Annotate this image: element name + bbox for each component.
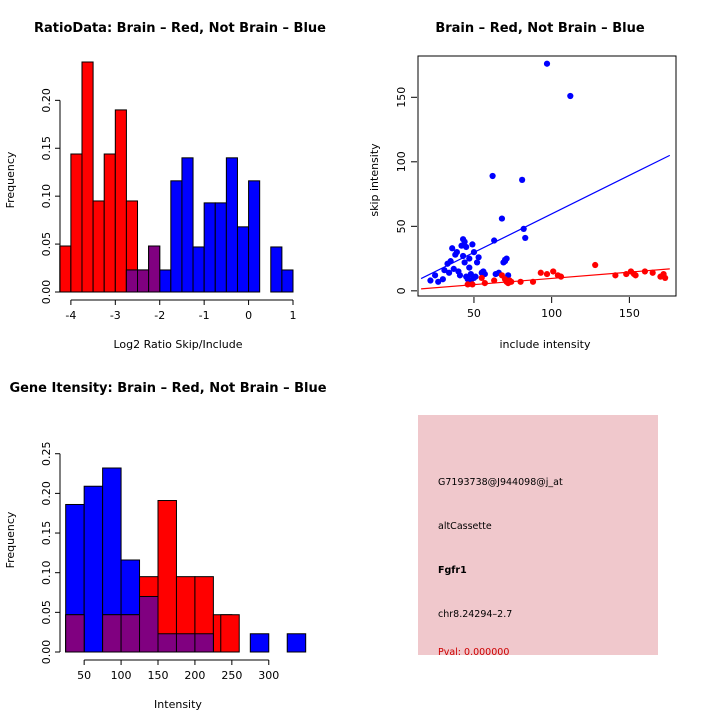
info-probe-id: G7193738@J944098@j_at — [438, 477, 563, 488]
info-event-type: altCassette — [438, 521, 492, 532]
histogram-bar — [221, 615, 239, 652]
scatter-point — [454, 249, 460, 255]
scatter-point — [427, 277, 433, 283]
panel-intensity-scatter: Brain – Red, Not Brain – Blue 0501001505… — [360, 0, 720, 360]
axis-tick-label: -4 — [65, 309, 76, 322]
scatter-point — [491, 277, 497, 283]
scatter-point — [457, 272, 463, 278]
histogram-bar — [182, 158, 193, 292]
histogram-bar — [171, 181, 182, 292]
info-locus: chr8.24294–2.7 — [438, 609, 512, 620]
ratio-histogram-xlabel: Log2 Ratio Skip/Include — [113, 338, 242, 351]
axis-tick-label: 1 — [290, 309, 297, 322]
scatter-point — [508, 279, 514, 285]
scatter-point — [530, 279, 536, 285]
scatter-point — [538, 270, 544, 276]
axis-tick-label: 0.05 — [40, 232, 53, 256]
plot-frame — [418, 56, 676, 296]
scatter-point — [592, 262, 598, 268]
histogram-bar — [249, 181, 260, 292]
scatter-point — [469, 281, 475, 287]
histogram-bar-overlap — [158, 634, 176, 652]
axis-tick-label: 150 — [148, 669, 169, 682]
histogram-bar-overlap — [176, 634, 194, 652]
scatter-title: Brain – Red, Not Brain – Blue — [435, 21, 644, 36]
histogram-bar-overlap — [126, 270, 137, 292]
histogram-bar — [193, 247, 204, 292]
histogram-bar — [60, 246, 71, 292]
axis-tick-label: -2 — [154, 309, 165, 322]
info-pval: Pval: 0.000000 — [438, 647, 509, 658]
histogram-bar — [160, 270, 171, 292]
scatter-point — [479, 275, 485, 281]
histogram-bar — [215, 203, 226, 292]
scatter-point — [466, 265, 472, 271]
panel-ratio-histogram: RatioData: Brain – Red, Not Brain – Blue… — [0, 0, 360, 360]
gene-histogram-ylabel: Frequency — [4, 511, 17, 568]
regression-line — [421, 155, 670, 278]
panel-gene-intensity-histogram: Gene Itensity: Brain – Red, Not Brain – … — [0, 360, 360, 720]
scatter-point — [460, 253, 466, 259]
axis-tick-label: 150 — [395, 87, 408, 108]
axis-tick-label: 100 — [395, 151, 408, 172]
scatter-point — [490, 173, 496, 179]
histogram-bar — [82, 62, 93, 292]
histogram-bar — [250, 634, 268, 652]
gene-histogram-bars — [66, 468, 306, 652]
axis-tick-label: 0.20 — [40, 481, 53, 506]
histogram-bar — [104, 154, 115, 292]
scatter-point — [642, 268, 648, 274]
axis-tick-label: 100 — [111, 669, 132, 682]
scatter-point — [482, 280, 488, 286]
axis-tick-label: 0.00 — [40, 280, 53, 305]
axis-tick-label: 250 — [221, 669, 242, 682]
figure-canvas: RatioData: Brain – Red, Not Brain – Blue… — [0, 0, 720, 720]
scatter-point — [612, 272, 618, 278]
scatter-axes: 05010015050100150 — [395, 87, 640, 320]
ratio-histogram-bars — [60, 62, 293, 292]
scatter-point — [472, 274, 478, 280]
histogram-bar — [115, 110, 126, 292]
axis-tick-label: 0.00 — [40, 640, 53, 665]
histogram-bar — [204, 203, 215, 292]
histogram-bar-overlap — [149, 246, 160, 292]
histogram-bar — [71, 154, 82, 292]
axis-tick-label: 50 — [467, 307, 481, 320]
axis-tick-label: 50 — [77, 669, 91, 682]
histogram-bar — [271, 247, 282, 292]
scatter-point — [522, 235, 528, 241]
scatter-point — [469, 241, 475, 247]
histogram-bar-overlap — [140, 596, 158, 652]
histogram-bar — [282, 270, 293, 292]
scatter-point — [503, 255, 509, 261]
scatter-point — [440, 276, 446, 282]
scatter-point — [491, 237, 497, 243]
histogram-bar-overlap — [103, 615, 121, 652]
axis-tick-label: 0.15 — [40, 136, 53, 161]
scatter-xlabel: include intensity — [499, 338, 591, 351]
scatter-point — [517, 279, 523, 285]
scatter-point — [650, 270, 656, 276]
axis-tick-label: 50 — [395, 219, 408, 233]
scatter-point — [448, 258, 454, 264]
axis-tick-label: 200 — [184, 669, 205, 682]
axis-tick-label: 300 — [258, 669, 279, 682]
gene-histogram-title: Gene Itensity: Brain – Red, Not Brain – … — [9, 381, 326, 396]
scatter-plot-area — [418, 56, 676, 296]
scatter-point — [519, 177, 525, 183]
histogram-bar — [84, 486, 102, 652]
axis-tick-label: 0.05 — [40, 600, 53, 625]
scatter-point — [499, 215, 505, 221]
ratio-histogram-ylabel: Frequency — [4, 151, 17, 208]
scatter-point — [466, 255, 472, 261]
scatter-point — [558, 274, 564, 280]
axis-tick-label: 0.25 — [40, 441, 53, 466]
scatter-point — [521, 226, 527, 232]
gene-histogram-xlabel: Intensity — [154, 698, 202, 711]
histogram-bar-overlap — [121, 615, 139, 652]
ratio-histogram-title: RatioData: Brain – Red, Not Brain – Blue — [34, 21, 326, 36]
histogram-bar-overlap — [138, 270, 149, 292]
histogram-bar — [226, 158, 237, 292]
scatter-ylabel: skip intensity — [368, 143, 381, 217]
axis-tick-label: 0.10 — [40, 560, 53, 585]
axis-tick-label: 0 — [395, 287, 408, 294]
histogram-bar — [158, 501, 176, 652]
axis-tick-label: 0.15 — [40, 521, 53, 546]
scatter-svg: Brain – Red, Not Brain – Blue 0501001505… — [360, 0, 720, 360]
scatter-point — [567, 93, 573, 99]
info-gene-name: Fgfr1 — [438, 565, 467, 576]
scatter-point — [544, 61, 550, 67]
axis-tick-label: 0 — [245, 309, 252, 322]
histogram-bar-overlap — [195, 634, 213, 652]
axis-tick-label: 150 — [619, 307, 640, 320]
scatter-point — [463, 244, 469, 250]
axis-tick-label: 0.10 — [40, 184, 53, 209]
scatter-point — [471, 249, 477, 255]
axis-tick-label: -3 — [110, 309, 121, 322]
info-box: G7193738@J944098@j_at altCassette Fgfr1 … — [418, 415, 658, 655]
histogram-bar — [93, 201, 104, 292]
ratio-histogram-svg: RatioData: Brain – Red, Not Brain – Blue… — [0, 0, 360, 360]
histogram-bar — [237, 227, 248, 292]
axis-tick-label: -1 — [199, 309, 210, 322]
axis-tick-label: 0.20 — [40, 88, 53, 113]
scatter-point — [476, 254, 482, 260]
panel-info: G7193738@J944098@j_at altCassette Fgfr1 … — [360, 360, 720, 720]
scatter-point — [432, 272, 438, 278]
histogram-bar — [287, 634, 305, 652]
histogram-bar-overlap — [66, 615, 84, 652]
scatter-point — [632, 272, 638, 278]
scatter-point — [544, 271, 550, 277]
scatter-point — [662, 275, 668, 281]
axis-tick-label: 100 — [541, 307, 562, 320]
gene-histogram-svg: Gene Itensity: Brain – Red, Not Brain – … — [0, 360, 360, 720]
